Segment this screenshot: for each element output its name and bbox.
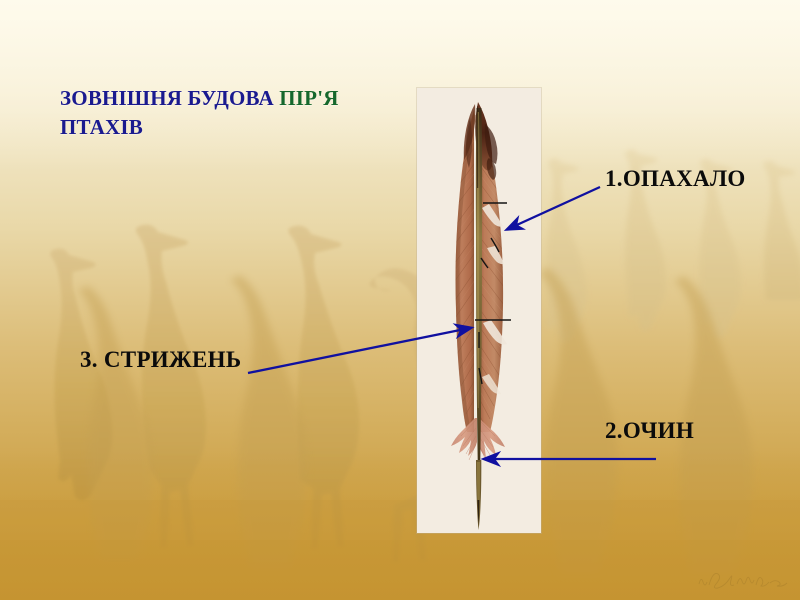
slide-canvas: ЗОВНІШНЯ БУДОВА ПІР'Я ПТАХІВ bbox=[0, 0, 800, 600]
title-line1-primary: ЗОВНІШНЯ БУДОВА bbox=[60, 86, 279, 110]
callout-label-opahalo: 1.ОПАХАЛО bbox=[605, 166, 746, 192]
page-title: ЗОВНІШНЯ БУДОВА ПІР'Я ПТАХІВ bbox=[60, 84, 440, 142]
feather-photo-panel bbox=[417, 88, 541, 533]
signature-watermark bbox=[696, 566, 792, 592]
title-line2: ПТАХІВ bbox=[60, 115, 143, 139]
callout-label-stryzhen: 3. СТРИЖЕНЬ bbox=[80, 347, 241, 373]
callout-label-ochyn: 2.ОЧИН bbox=[605, 418, 694, 444]
title-line1-accent: ПІР'Я bbox=[279, 86, 338, 110]
